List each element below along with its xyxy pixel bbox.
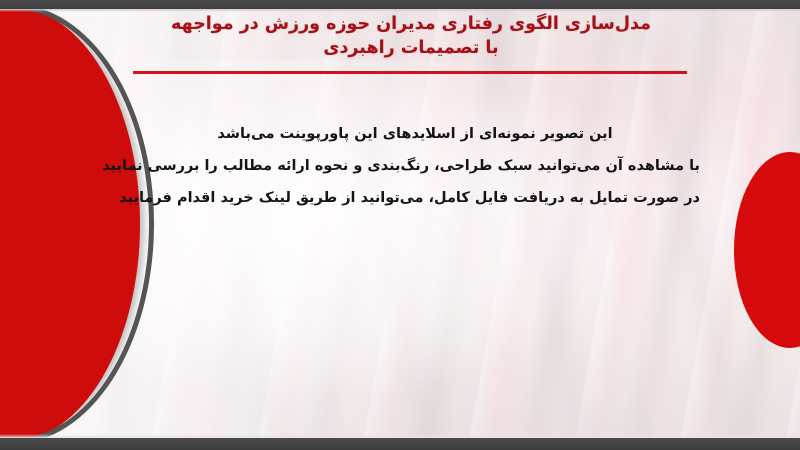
slide-body-text: این تصویر نمونه‌ای از اسلایدهای این پاور… (130, 118, 700, 214)
left-decoration-group (0, 0, 130, 450)
title-line-2: با تصمیمات راهبردی (130, 36, 692, 60)
bottom-bar-highlight (0, 434, 800, 438)
body-line-1: این تصویر نمونه‌ای از اسلایدهای این پاور… (130, 118, 700, 150)
bottom-bar (0, 438, 800, 450)
top-bar-highlight (0, 9, 800, 12)
body-line-2: با مشاهده آن می‌توانید سبک طراحی، رنگ‌بن… (130, 150, 700, 182)
body-line-3: در صورت تمایل به دریافت فایل کامل، می‌تو… (130, 182, 700, 214)
slide-title: مدل‌سازی الگوی رفتاری مدیران حوزه ورزش د… (130, 12, 692, 60)
title-line-1: مدل‌سازی الگوی رفتاری مدیران حوزه ورزش د… (130, 12, 692, 36)
background-center-glow (120, 60, 640, 400)
top-bar (0, 0, 800, 9)
presentation-slide: مدل‌سازی الگوی رفتاری مدیران حوزه ورزش د… (0, 0, 800, 450)
title-underline-rule (133, 71, 687, 74)
left-edge-fill (0, 0, 18, 450)
